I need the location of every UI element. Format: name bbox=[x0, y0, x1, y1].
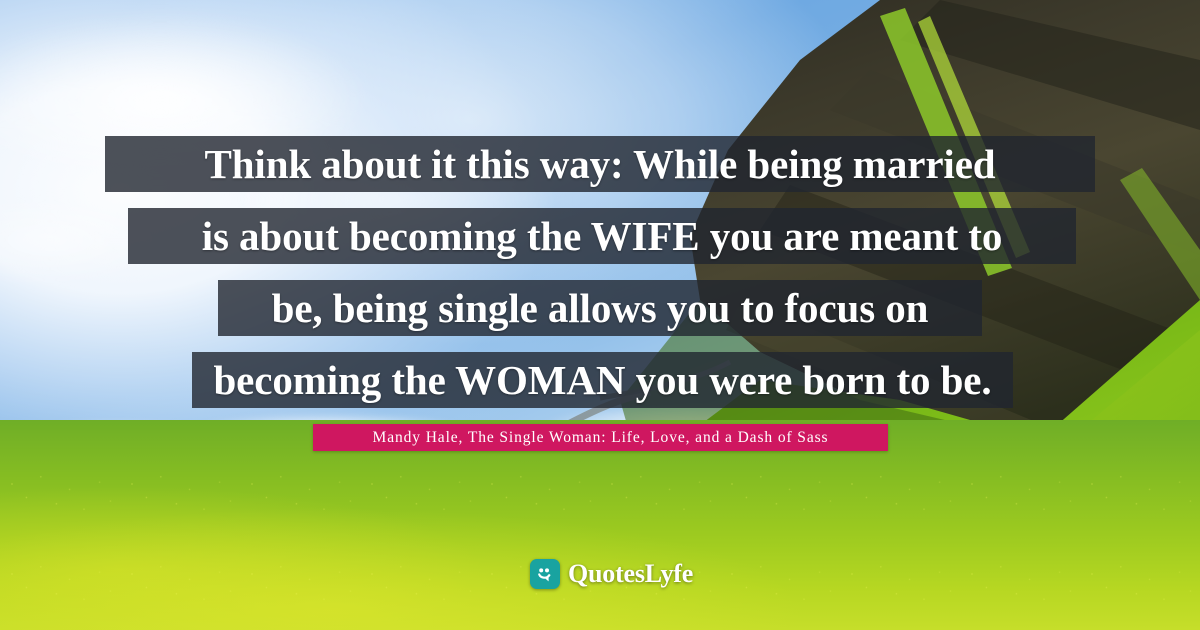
quote-block: Think about it this way: While being mar… bbox=[0, 0, 1200, 630]
quote-smiley-icon bbox=[530, 559, 560, 589]
quoteslyfe-logo[interactable]: QuotesLyfe bbox=[530, 557, 693, 591]
quote-line-3: be, being single allows you to focus on bbox=[218, 280, 982, 336]
attribution-banner: Mandy Hale, The Single Woman: Life, Love… bbox=[313, 424, 888, 451]
quote-card: Think about it this way: While being mar… bbox=[0, 0, 1200, 630]
quote-line-4: becoming the WOMAN you were born to be. bbox=[192, 352, 1013, 408]
logo-wordmark: QuotesLyfe bbox=[568, 561, 693, 587]
quote-line-1: Think about it this way: While being mar… bbox=[105, 136, 1095, 192]
quote-line-2: is about becoming the WIFE you are meant… bbox=[128, 208, 1076, 264]
